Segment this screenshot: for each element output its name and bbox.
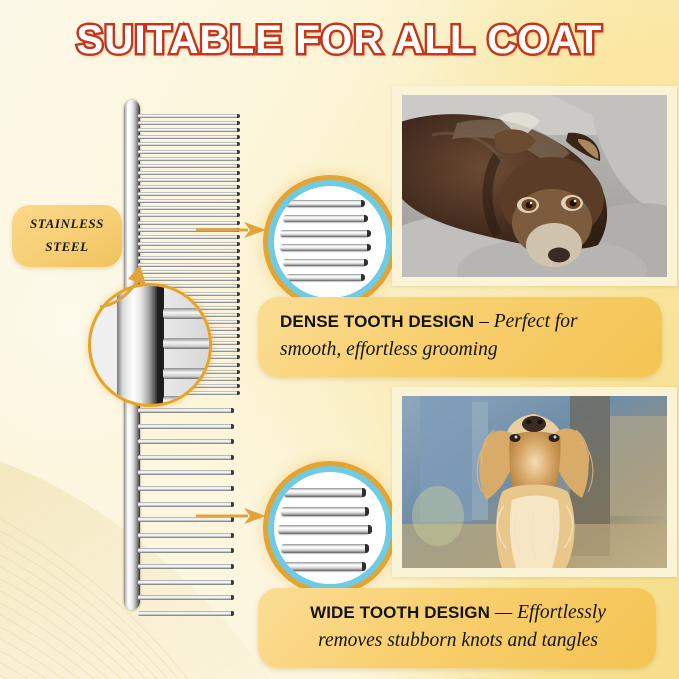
photo-dog-resting-frame [392,86,677,286]
wide-tooth-lens [268,466,392,590]
feature-dense-tooth-caption: DENSE TOOTH DESIGN – Perfect for smooth,… [258,297,662,377]
comb-tooth-dense [138,171,239,175]
comb-tooth-wide [138,408,233,413]
comb-tooth-wide [138,533,233,538]
comb-tooth-dense [138,213,239,217]
comb-tooth-dense [138,178,239,182]
comb-tooth-dense [138,164,239,168]
lens-pin [278,525,370,534]
comb-tooth-wide [138,486,233,491]
lens-pin [283,259,366,266]
comb-tooth-dense [138,142,239,146]
comb-tooth-dense [138,235,239,239]
dense-tooth-lens [268,180,392,304]
lens-pin [281,507,367,516]
comb-tooth-dense [138,157,239,161]
page-title-outline: SUITABLE FOR ALL COAT [0,18,679,63]
comb-tooth-dense [138,199,239,203]
comb-tooth-wide [138,439,233,444]
comb-tooth-dense [138,192,239,196]
lens-pin [280,230,369,237]
comb-tooth-dense [138,128,239,132]
comb-tooth-dense [138,270,239,274]
dense-tooth-dash: – [474,311,494,332]
comb-tooth-dense [138,185,239,189]
comb-tooth-dense [138,121,239,125]
comb-tooth-dense [138,135,239,139]
lens-pin [286,200,363,207]
comb-tooth-dense [138,228,239,232]
dense-tooth-heading: DENSE TOOTH DESIGN [280,312,474,331]
wide-tooth-heading: WIDE TOOTH DESIGN [310,603,490,622]
lens-pin [284,488,364,497]
material-badge-line-1: STAINLESS [30,213,104,236]
comb-spine-closeup-lens [88,283,212,407]
comb-tooth-wide [138,470,233,475]
comb-tooth-wide [138,517,233,522]
comb-tooth-wide [138,455,233,460]
comb-tooth-dense [138,242,239,246]
comb-tooth-wide [138,564,233,569]
lens-pin [284,562,364,571]
comb-tooth-wide [138,580,233,585]
comb-tooth-wide [138,611,233,616]
infographic-canvas: SUITABLE FOR ALL COAT SUITABLE FOR ALL C… [0,0,679,679]
lens-pin [286,274,363,281]
comb-tooth-dense [138,221,239,225]
lens-pin [281,544,367,553]
comb-tooth-dense [138,150,239,154]
stainless-steel-badge: STAINLESS STEEL [12,205,122,267]
material-badge-line-2: STEEL [45,236,88,259]
comb-tooth-dense [138,256,239,260]
comb-tooth-dense [138,206,239,210]
wide-tooth-dash: — [490,602,517,623]
comb-tooth-wide [138,502,233,507]
comb-tooth-wide [138,595,233,600]
photo-dog-looking-up [402,396,667,568]
feature-wide-tooth-caption: WIDE TOOTH DESIGN — Effortlessly removes… [258,588,656,668]
comb-tooth-wide [138,548,233,553]
comb-tooth-dense [138,249,239,253]
lens-pin [280,244,369,251]
photo-dog-looking-up-frame [392,387,677,577]
lens-pin [283,215,366,222]
photo-dog-resting [402,95,667,277]
comb-tooth-dense [138,277,239,281]
comb-tooth-wide [138,424,233,429]
comb-tooth-dense [138,263,239,267]
comb-tooth-dense [138,114,239,118]
